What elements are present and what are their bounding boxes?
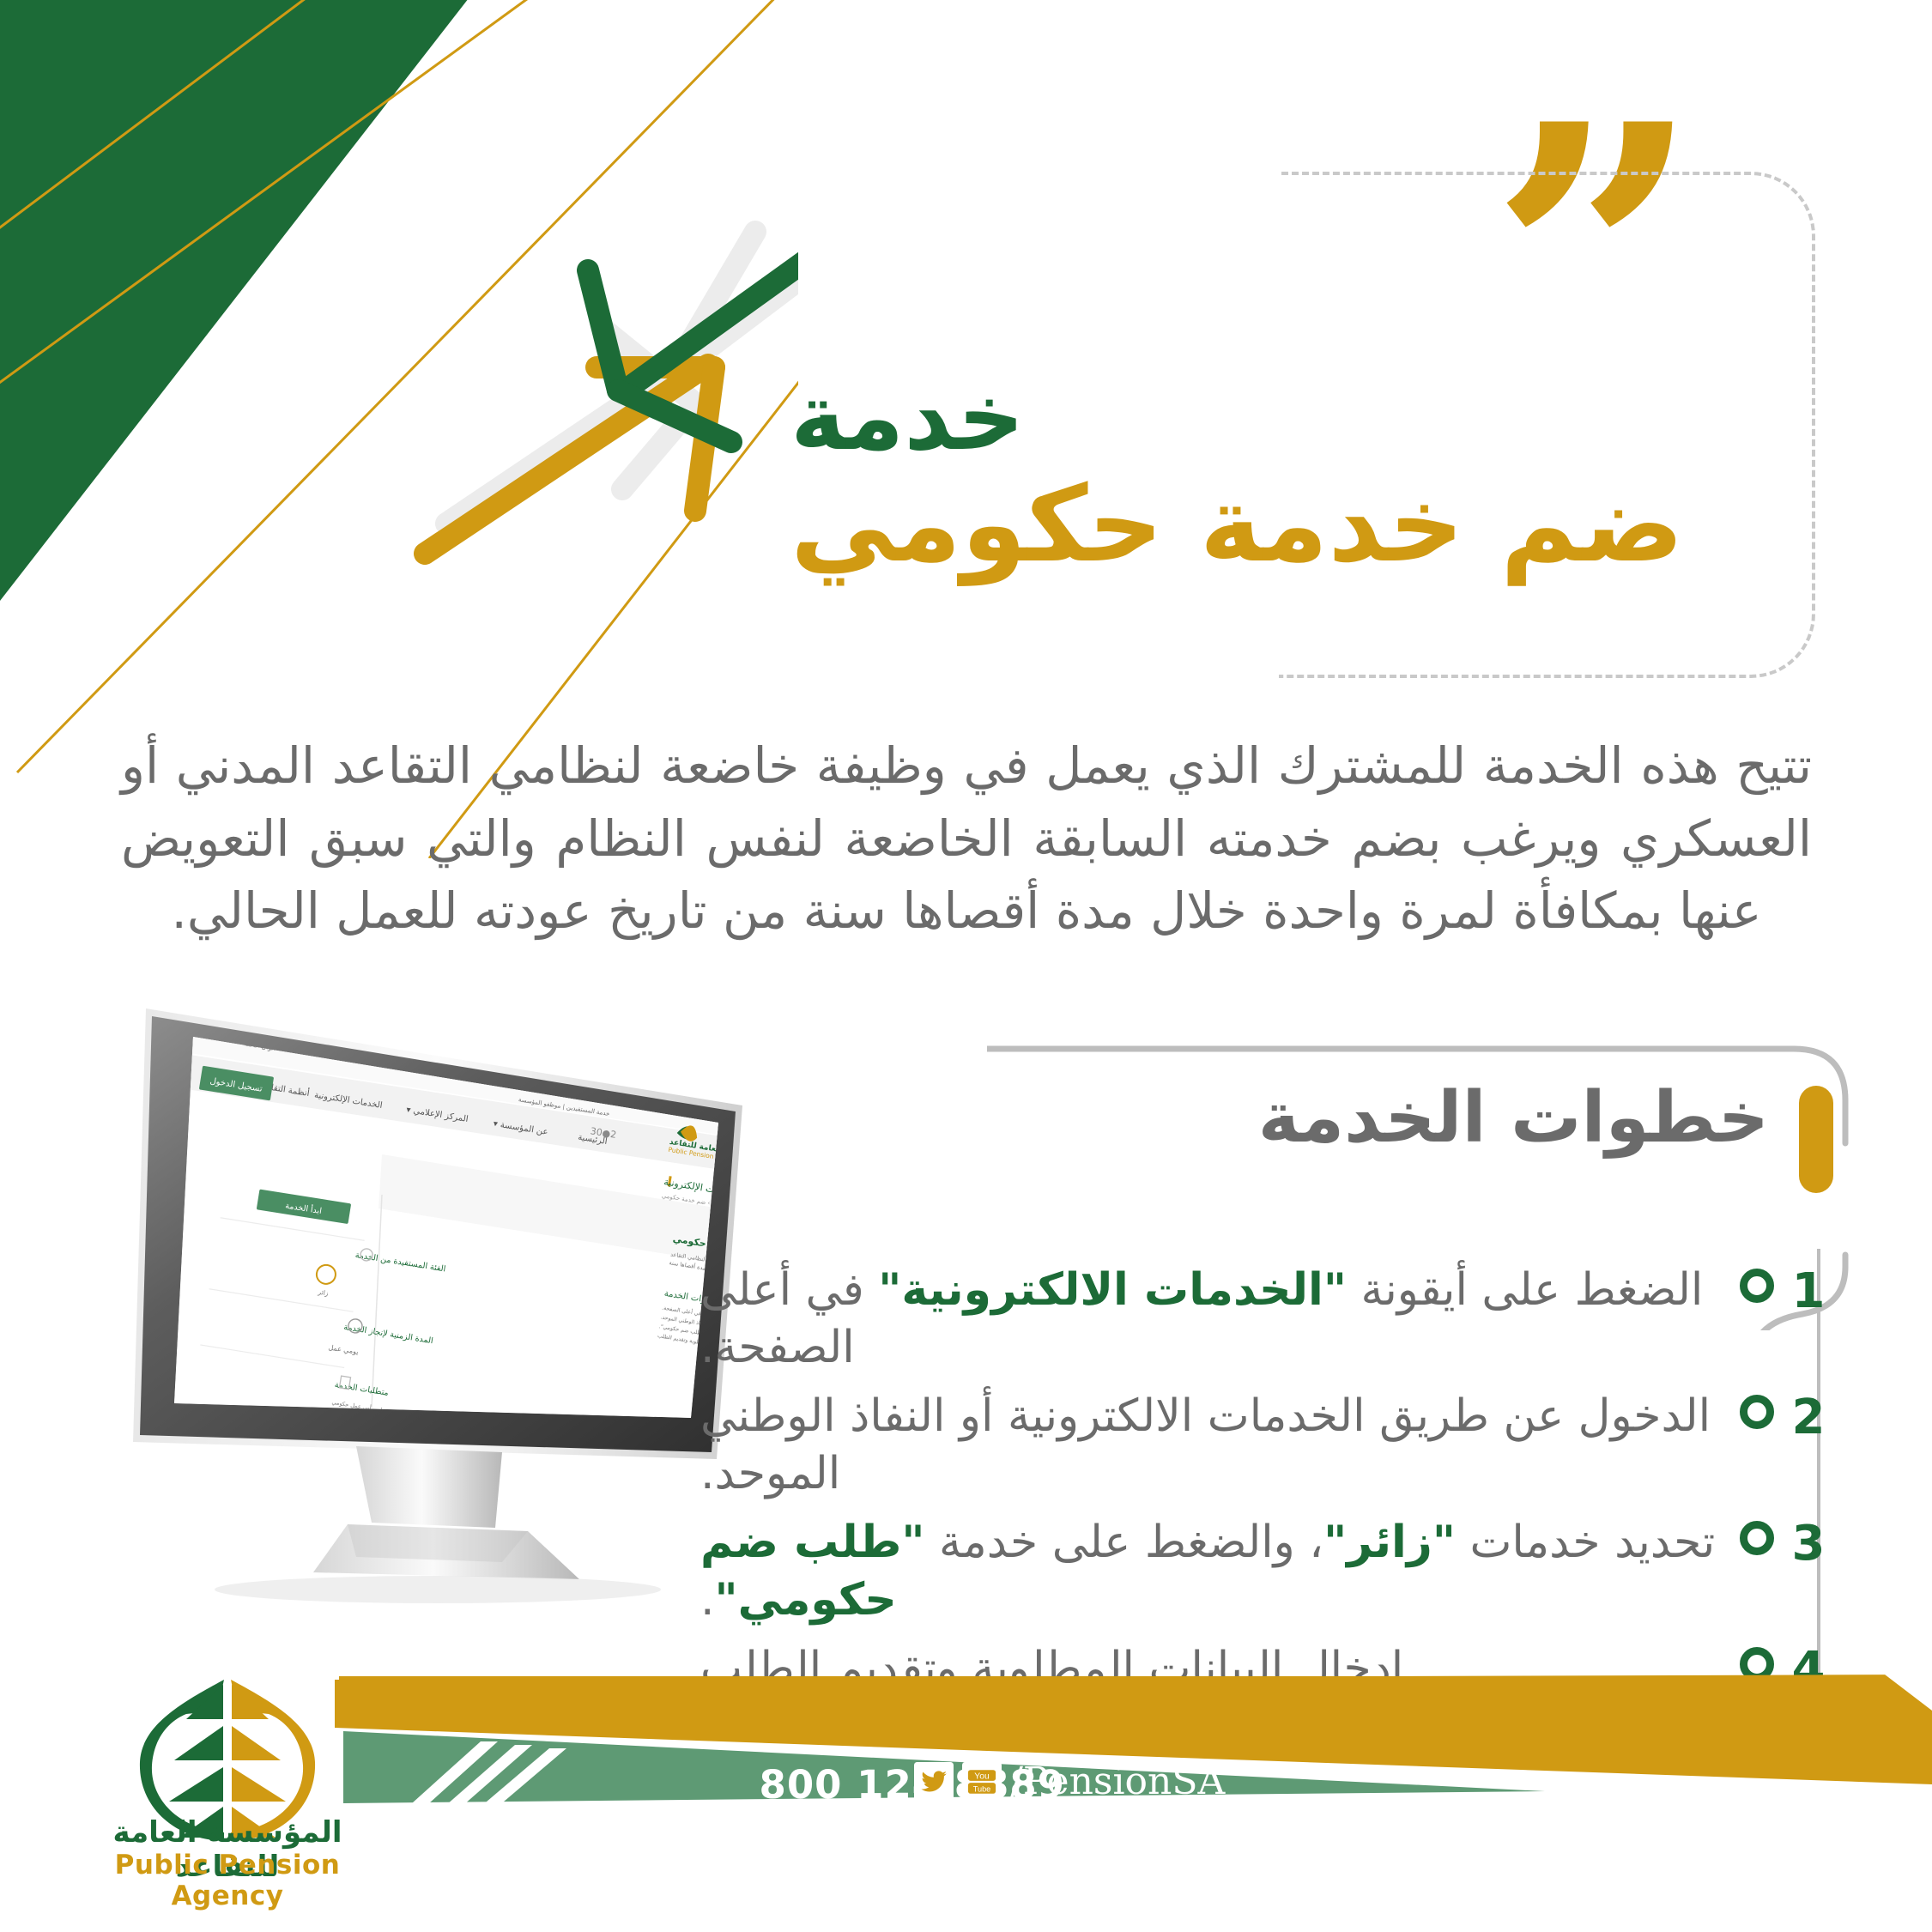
step-text: الضغط على أيقونة "الخدمات الالكترونية" ف… xyxy=(700,1262,1730,1376)
step-number: 1 xyxy=(1784,1262,1833,1318)
step-item: 2الدخول عن طريق الخدمات الالكترونية أو ا… xyxy=(700,1388,1833,1502)
step-text: تحديد خدمات "زائر"، والضغط على خدمة "طلب… xyxy=(700,1514,1730,1628)
title-line-1: خدمة xyxy=(790,369,1820,466)
step-number: 3 xyxy=(1784,1514,1833,1571)
step-item: 1الضغط على أيقونة "الخدمات الالكترونية" … xyxy=(700,1262,1833,1376)
monitor-mockup: ألوان خاصة خدمة المستفيدين | موظفو المؤس… xyxy=(99,978,768,1656)
step-item: 3تحديد خدمات "زائر"، والضغط على خدمة "طل… xyxy=(700,1514,1833,1628)
page-title: خدمة ضم خدمة حكومي xyxy=(790,369,1820,579)
arrow-up-right-icon xyxy=(425,365,714,554)
website-url[interactable]: www.pension.gov.sa xyxy=(914,1805,1245,1843)
youtube-icon[interactable]: You Tube xyxy=(962,1762,1002,1802)
step-text: الدخول عن طريق الخدمات الالكترونية أو ال… xyxy=(700,1388,1730,1502)
twitter-icon[interactable] xyxy=(914,1762,954,1802)
title-line-2: ضم خدمة حكومي xyxy=(790,469,1820,579)
service-description: تتيح هذه الخدمة للمشترك الذي يعمل في وظي… xyxy=(121,730,1812,948)
svg-text:Tube: Tube xyxy=(973,1784,991,1793)
logo-name-en: Public Pension Agency xyxy=(73,1850,382,1911)
svg-text:You: You xyxy=(974,1772,990,1781)
step-bullet-icon xyxy=(1730,1514,1784,1555)
steps-list: 1الضغط على أيقونة "الخدمات الالكترونية" … xyxy=(700,1262,1833,1710)
step-bullet-icon xyxy=(1730,1388,1784,1429)
step-number: 2 xyxy=(1784,1388,1833,1444)
social-links: You Tube /PensionSA www.pension.gov.sa xyxy=(914,1759,1245,1843)
social-handle[interactable]: /PensionSA xyxy=(1010,1759,1225,1803)
step-bullet-icon xyxy=(1730,1262,1784,1303)
